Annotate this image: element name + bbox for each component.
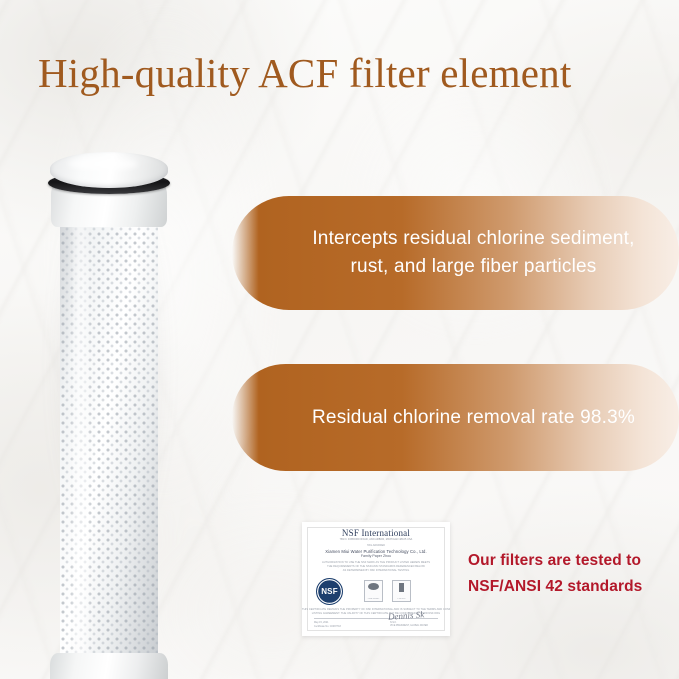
- certificate-body-line-2: THE REQUIREMENTS OF THE NSF/ANSI STANDAR…: [302, 565, 450, 568]
- certification-mark-b-icon: LISTED: [392, 580, 411, 602]
- nsf-certificate-image: NSF International 789 N. DIXBORO ROAD, A…: [302, 522, 450, 636]
- certification-mark-b-caption: LISTED: [394, 598, 409, 600]
- certificate-heading-subtitle: 789 N. DIXBORO ROAD, ANN ARBOR, MICHIGAN…: [302, 538, 450, 541]
- filter-top-cap: [50, 152, 168, 188]
- certificate-number: Certificate No. C0097718: [314, 625, 341, 628]
- certificate-signer-title: N.S.F.: [390, 621, 397, 624]
- feature-pill-interception: Intercepts residual chlorine sediment, r…: [232, 196, 679, 310]
- filter-bottom-collar: [50, 653, 168, 679]
- standards-note: Our filters are tested to NSF/ANSI 42 st…: [468, 548, 668, 600]
- page-title: High-quality ACF filter element: [38, 47, 648, 99]
- feature-pill-chlorine-removal-text: Residual chlorine removal rate 98.3%: [294, 404, 653, 432]
- filter-body-highlight: [68, 222, 94, 662]
- certificate-date: May 15, 2021: [314, 621, 329, 624]
- nsf-seal-icon: NSF: [316, 578, 343, 605]
- feature-pill-chlorine-removal: Residual chlorine removal rate 98.3%: [232, 364, 679, 471]
- standards-note-line-2: NSF/ANSI 42 standards: [468, 574, 668, 600]
- standards-note-line-1: Our filters are tested to: [468, 548, 668, 574]
- product-image: [42, 148, 178, 648]
- product-infographic: High-quality ACF filter element Intercep…: [0, 0, 679, 679]
- certificate-signer-role: VICE PRESIDENT, GLOBAL WATER: [390, 625, 428, 627]
- certificate-awarded-label: HAS AWARDED: [302, 544, 450, 547]
- certificate-company-subline: Family Paper Zhou: [302, 554, 450, 558]
- certification-mark-a-icon: CERTIFIED: [364, 580, 383, 602]
- certificate-body-line-3: AS DETERMINED BY NSF INTERNATIONAL TESTI…: [302, 569, 450, 572]
- feature-pill-interception-text: Intercepts residual chlorine sediment, r…: [294, 225, 653, 281]
- certificate-body-line-1: AUTHORIZATION TO USE THE NSF MARK AS THE…: [302, 561, 450, 564]
- certificate-heading: NSF International: [302, 528, 450, 538]
- certification-mark-a-caption: CERTIFIED: [366, 598, 381, 600]
